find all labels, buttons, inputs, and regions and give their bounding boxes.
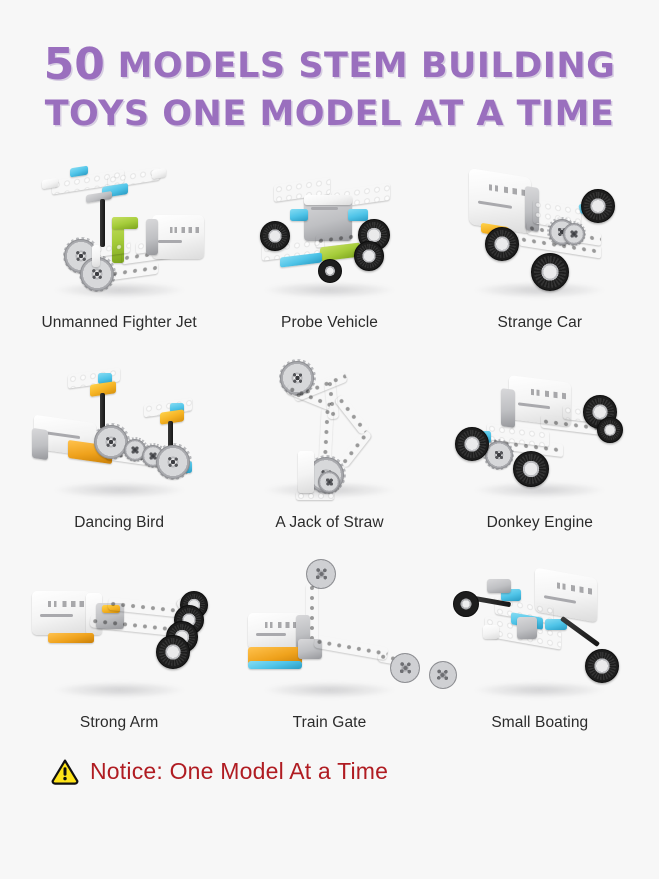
model-shadow: [265, 682, 394, 698]
fighter-jet-model-icon: [24, 157, 214, 302]
gear-1: [94, 425, 128, 459]
headline-line-1-text: Models STEM Building: [118, 46, 616, 86]
model-card-small-boating: Small Boating: [435, 552, 645, 752]
model-image-dancing-bird: [14, 352, 224, 502]
pulley-loose: [429, 661, 457, 689]
brick-grey-mount: [517, 617, 537, 639]
headline-line-1: 50 Models STEM Building: [34, 38, 625, 93]
brick-orange-base: [48, 633, 94, 643]
jack-of-straw-model-icon: [234, 357, 424, 502]
model-caption: Small Boating: [491, 714, 588, 732]
wheel-front-right: [597, 417, 623, 443]
brick-grey-motor: [487, 579, 511, 593]
hub-slot: [158, 240, 182, 243]
wheel-rear-left: [485, 227, 519, 261]
notice-text: Notice: One Model At a Time: [90, 758, 388, 785]
wheel-stack-4: [156, 635, 190, 669]
brick-cyan-base: [248, 661, 302, 669]
hub-slot: [44, 431, 80, 439]
wheel-right: [585, 649, 619, 683]
hub-slot: [40, 614, 72, 617]
model-shadow: [55, 282, 184, 298]
headline-line-2: Toys One Model At a Time: [34, 93, 625, 136]
probe-vehicle-model-icon: [234, 157, 424, 302]
hub-slot: [311, 207, 338, 210]
headline-count: 50: [44, 39, 105, 90]
brick-lime-arm: [112, 217, 138, 229]
wheel-front-left: [318, 259, 342, 283]
gear-4: [156, 445, 190, 479]
model-shadow: [55, 682, 184, 698]
model-image-a-jack-of-straw: [224, 352, 434, 502]
axle-left: [100, 393, 105, 429]
notice-bar: Notice: One Model At a Time: [0, 752, 659, 786]
brick-wingtip-right: [152, 168, 166, 179]
model-card-probe-vehicle: Probe Vehicle: [224, 152, 434, 352]
hub-body: [32, 591, 90, 635]
model-shadow: [55, 482, 184, 498]
model-row-3: Strong Arm: [14, 552, 645, 752]
model-caption: Unmanned Fighter Jet: [41, 314, 196, 332]
wheel-rear-left: [455, 427, 489, 461]
hub-body: [469, 168, 531, 234]
hub-body: [248, 613, 302, 649]
hub-side: [146, 219, 158, 255]
brick-cyan-left: [290, 209, 308, 221]
model-image-strange-car: [435, 152, 645, 302]
mast-axle: [100, 199, 105, 247]
model-caption: A Jack of Straw: [275, 514, 383, 532]
model-image-train-gate: [224, 552, 434, 702]
brick-white-bow: [483, 625, 499, 639]
hub-label: [489, 185, 526, 197]
wheel-front-right: [581, 189, 615, 223]
model-shadow: [265, 282, 394, 298]
brick-white-link: [92, 245, 100, 267]
gear-idler: [563, 223, 585, 245]
hub-side: [32, 428, 48, 460]
model-caption: Strange Car: [497, 314, 582, 332]
strong-arm-model-icon: [24, 557, 214, 702]
train-gate-model-icon: [234, 557, 424, 702]
warning-triangle-icon: [50, 758, 80, 786]
hub-slot: [477, 201, 512, 209]
model-image-strong-arm: [14, 552, 224, 702]
hub-label: [265, 622, 297, 628]
small-boating-model-icon: [445, 557, 635, 702]
model-grid: Unmanned Fighter Jet: [0, 146, 659, 752]
model-shadow: [475, 682, 604, 698]
hub-label: [557, 583, 592, 595]
hub-slot: [517, 402, 549, 409]
model-row-1: Unmanned Fighter Jet: [14, 152, 645, 352]
model-image-probe-vehicle: [224, 152, 434, 302]
wheel-front-left: [513, 451, 549, 487]
hub-slot: [256, 633, 286, 636]
model-card-train-gate: Train Gate: [224, 552, 434, 752]
model-caption: Train Gate: [293, 714, 367, 732]
model-card-strange-car: Strange Car: [435, 152, 645, 352]
model-caption: Donkey Engine: [487, 514, 593, 532]
beam-cyan-lower: [110, 262, 158, 281]
hub-top: [304, 195, 352, 205]
model-caption: Probe Vehicle: [281, 314, 378, 332]
model-card-a-jack-of-straw: A Jack of Straw: [224, 352, 434, 552]
hub-label: [170, 227, 199, 233]
hub-body: [152, 215, 204, 259]
model-image-donkey-engine: [435, 352, 645, 502]
pulley-end: [390, 653, 420, 683]
model-card-donkey-engine: Donkey Engine: [435, 352, 645, 552]
dancing-bird-model-icon: [24, 357, 214, 502]
brick-grey-mount: [86, 191, 112, 203]
donkey-engine-model-icon: [445, 357, 635, 502]
gear-drive: [485, 441, 513, 469]
model-card-unmanned-fighter-jet: Unmanned Fighter Jet: [14, 152, 224, 352]
hub-side: [501, 388, 515, 428]
page-title: 50 Models STEM Building Toys One Model A…: [0, 0, 659, 146]
brick-yellow-base: [296, 491, 334, 500]
wheel-rear-right: [354, 241, 384, 271]
beam-lime-diagonal: [338, 429, 373, 469]
wheel-front-left: [531, 253, 569, 291]
hub-label: [48, 601, 84, 607]
brick-white-stand: [298, 451, 314, 493]
model-card-dancing-bird: Dancing Bird: [14, 352, 224, 552]
model-image-small-boating: [435, 552, 645, 702]
hub-label: [531, 389, 566, 399]
strange-car-model-icon: [445, 157, 635, 302]
model-caption: Strong Arm: [80, 714, 159, 732]
model-image-unmanned-fighter-jet: [14, 152, 224, 302]
brick-cyan-right: [348, 209, 368, 221]
model-row-2: Dancing Bird: [14, 352, 645, 552]
wheel-left: [453, 591, 479, 617]
model-caption: Dancing Bird: [74, 514, 164, 532]
model-card-strong-arm: Strong Arm: [14, 552, 224, 752]
hub-slot: [543, 595, 575, 604]
